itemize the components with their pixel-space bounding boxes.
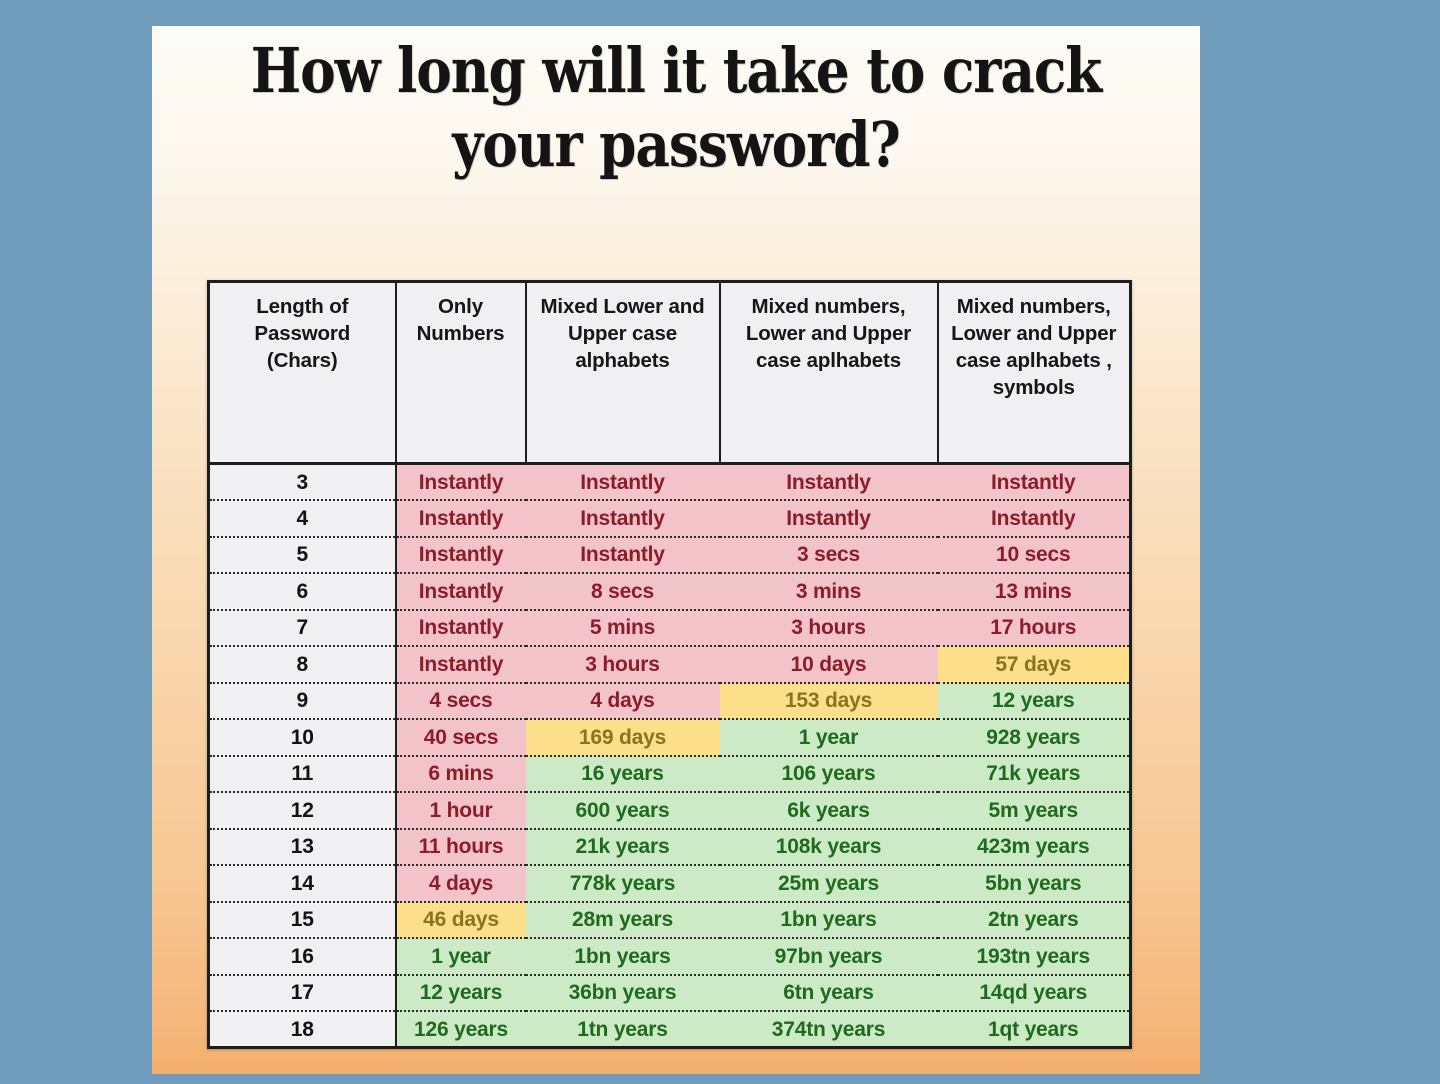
crack-time-cell: 2tn years [938,902,1131,939]
crack-time-cell: Instantly [526,464,720,501]
crack-time-cell: 12 years [938,683,1131,720]
password-length-cell: 17 [209,975,396,1012]
table-row: 18126 years1tn years374tn years1qt years [209,1011,1131,1048]
crack-time-cell: 3 hours [526,646,720,683]
header-text: Numbers [417,322,505,345]
crack-time-cell: 5m years [938,792,1131,829]
password-length-cell: 11 [209,756,396,793]
crack-time-cell: 106 years [720,756,938,793]
crack-time-cell: 4 days [396,865,526,902]
table-row: 7Instantly5 mins3 hours17 hours [209,610,1131,647]
header-text: Only [438,295,483,318]
table-row: 1546 days28m years1bn years2tn years [209,902,1131,939]
crack-time-cell: 6k years [720,792,938,829]
crack-time-cell: 1 year [396,938,526,975]
table-header-row: Length of Password (Chars) Only Numbers … [209,282,1131,464]
title-line-1: How long will it take to crack [225,34,1126,108]
crack-time-cell: 71k years [938,756,1131,793]
crack-time-cell: 374tn years [720,1011,938,1048]
column-header-mixed-alphanumeric: Mixed numbers, Lower and Upper case aplh… [720,282,938,464]
password-length-cell: 14 [209,865,396,902]
table-row: 1311 hours21k years108k years423m years [209,829,1131,866]
crack-time-cell: Instantly [526,537,720,574]
crack-time-cell: Instantly [938,464,1131,501]
crack-time-cell: 57 days [938,646,1131,683]
crack-time-cell: 11 hours [396,829,526,866]
password-length-cell: 8 [209,646,396,683]
crack-time-cell: 5bn years [938,865,1131,902]
header-text: case aplhabets [756,349,901,372]
crack-time-cell: 21k years [526,829,720,866]
crack-time-cell: 46 days [396,902,526,939]
column-header-only-numbers: Only Numbers [396,282,526,464]
header-text: Lower and Upper [951,322,1116,345]
header-text: Upper case [568,322,677,345]
crack-time-cell: Instantly [396,646,526,683]
password-length-cell: 15 [209,902,396,939]
password-crack-time-table: Length of Password (Chars) Only Numbers … [207,280,1132,1049]
header-text: symbols [993,376,1075,399]
crack-time-cell: 3 hours [720,610,938,647]
header-text: Length of [256,295,348,318]
header-text: case aplhabets , [956,349,1112,372]
table-row: 144 days778k years25m years5bn years [209,865,1131,902]
crack-time-cell: 928 years [938,719,1131,756]
page-title: How long will it take to crack your pass… [152,34,1200,182]
crack-time-cell: 1qt years [938,1011,1131,1048]
table-row: 121 hour600 years6k years5m years [209,792,1131,829]
crack-time-cell: 97bn years [720,938,938,975]
crack-time-cell: 13 mins [938,573,1131,610]
table-row: 3InstantlyInstantlyInstantlyInstantly [209,464,1131,501]
crack-time-cell: 1 hour [396,792,526,829]
table-row: 8Instantly3 hours10 days57 days [209,646,1131,683]
crack-time-cell: Instantly [396,500,526,537]
table-row: 5InstantlyInstantly3 secs10 secs [209,537,1131,574]
header-text: Mixed numbers, [957,295,1111,318]
header-text: Lower and Upper [746,322,911,345]
crack-time-cell: 17 hours [938,610,1131,647]
password-length-cell: 9 [209,683,396,720]
crack-time-cell: Instantly [720,500,938,537]
password-length-cell: 5 [209,537,396,574]
table-header: Length of Password (Chars) Only Numbers … [209,282,1131,464]
table-row: 1712 years36bn years6tn years14qd years [209,975,1131,1012]
password-length-cell: 6 [209,573,396,610]
column-header-mixed-alphanumeric-symbols: Mixed numbers, Lower and Upper case aplh… [938,282,1131,464]
crack-time-cell: 600 years [526,792,720,829]
column-header-mixed-alpha: Mixed Lower and Upper case alphabets [526,282,720,464]
password-length-cell: 12 [209,792,396,829]
crack-time-cell: 169 days [526,719,720,756]
password-length-cell: 13 [209,829,396,866]
crack-time-cell: Instantly [938,500,1131,537]
table-row: 116 mins16 years106 years71k years [209,756,1131,793]
crack-time-cell: 108k years [720,829,938,866]
crack-time-cell: 1 year [720,719,938,756]
crack-time-cell: Instantly [396,573,526,610]
crack-time-cell: Instantly [396,610,526,647]
table-row: 94 secs4 days153 days12 years [209,683,1131,720]
crack-time-cell: Instantly [396,537,526,574]
password-length-cell: 4 [209,500,396,537]
password-length-cell: 7 [209,610,396,647]
crack-time-cell: Instantly [396,464,526,501]
password-length-cell: 10 [209,719,396,756]
crack-time-cell: Instantly [526,500,720,537]
password-length-cell: 3 [209,464,396,501]
slide-canvas: How long will it take to crack your pass… [152,26,1200,1074]
crack-time-cell: 193tn years [938,938,1131,975]
header-text: Mixed numbers, [752,295,906,318]
crack-time-cell: 1bn years [526,938,720,975]
crack-time-cell: 25m years [720,865,938,902]
header-text: alphabets [575,349,669,372]
column-header-length: Length of Password (Chars) [209,282,396,464]
crack-time-cell: 40 secs [396,719,526,756]
crack-time-cell: 6 mins [396,756,526,793]
table-row: 6Instantly8 secs3 mins13 mins [209,573,1131,610]
table-body: 3InstantlyInstantlyInstantlyInstantly4In… [209,464,1131,1048]
crack-time-cell: 3 mins [720,573,938,610]
crack-time-cell: 10 secs [938,537,1131,574]
crack-time-cell: 8 secs [526,573,720,610]
crack-time-cell: 28m years [526,902,720,939]
crack-time-cell: 6tn years [720,975,938,1012]
crack-time-cell: 153 days [720,683,938,720]
crack-time-cell: 423m years [938,829,1131,866]
crack-time-cell: Instantly [720,464,938,501]
password-length-cell: 18 [209,1011,396,1048]
table-row: 4InstantlyInstantlyInstantlyInstantly [209,500,1131,537]
header-text: Password (Chars) [254,322,350,372]
table-row: 161 year1bn years97bn years193tn years [209,938,1131,975]
table-row: 1040 secs169 days1 year928 years [209,719,1131,756]
title-line-2: your password? [225,108,1126,182]
crack-time-cell: 14qd years [938,975,1131,1012]
crack-time-cell: 16 years [526,756,720,793]
crack-time-cell: 1bn years [720,902,938,939]
crack-time-cell: 1tn years [526,1011,720,1048]
crack-time-cell: 3 secs [720,537,938,574]
password-length-cell: 16 [209,938,396,975]
crack-time-cell: 12 years [396,975,526,1012]
crack-time-cell: 36bn years [526,975,720,1012]
header-text: Mixed Lower and [540,295,704,318]
crack-time-cell: 126 years [396,1011,526,1048]
crack-time-cell: 778k years [526,865,720,902]
crack-time-cell: 4 days [526,683,720,720]
crack-time-cell: 4 secs [396,683,526,720]
crack-time-cell: 10 days [720,646,938,683]
crack-time-cell: 5 mins [526,610,720,647]
